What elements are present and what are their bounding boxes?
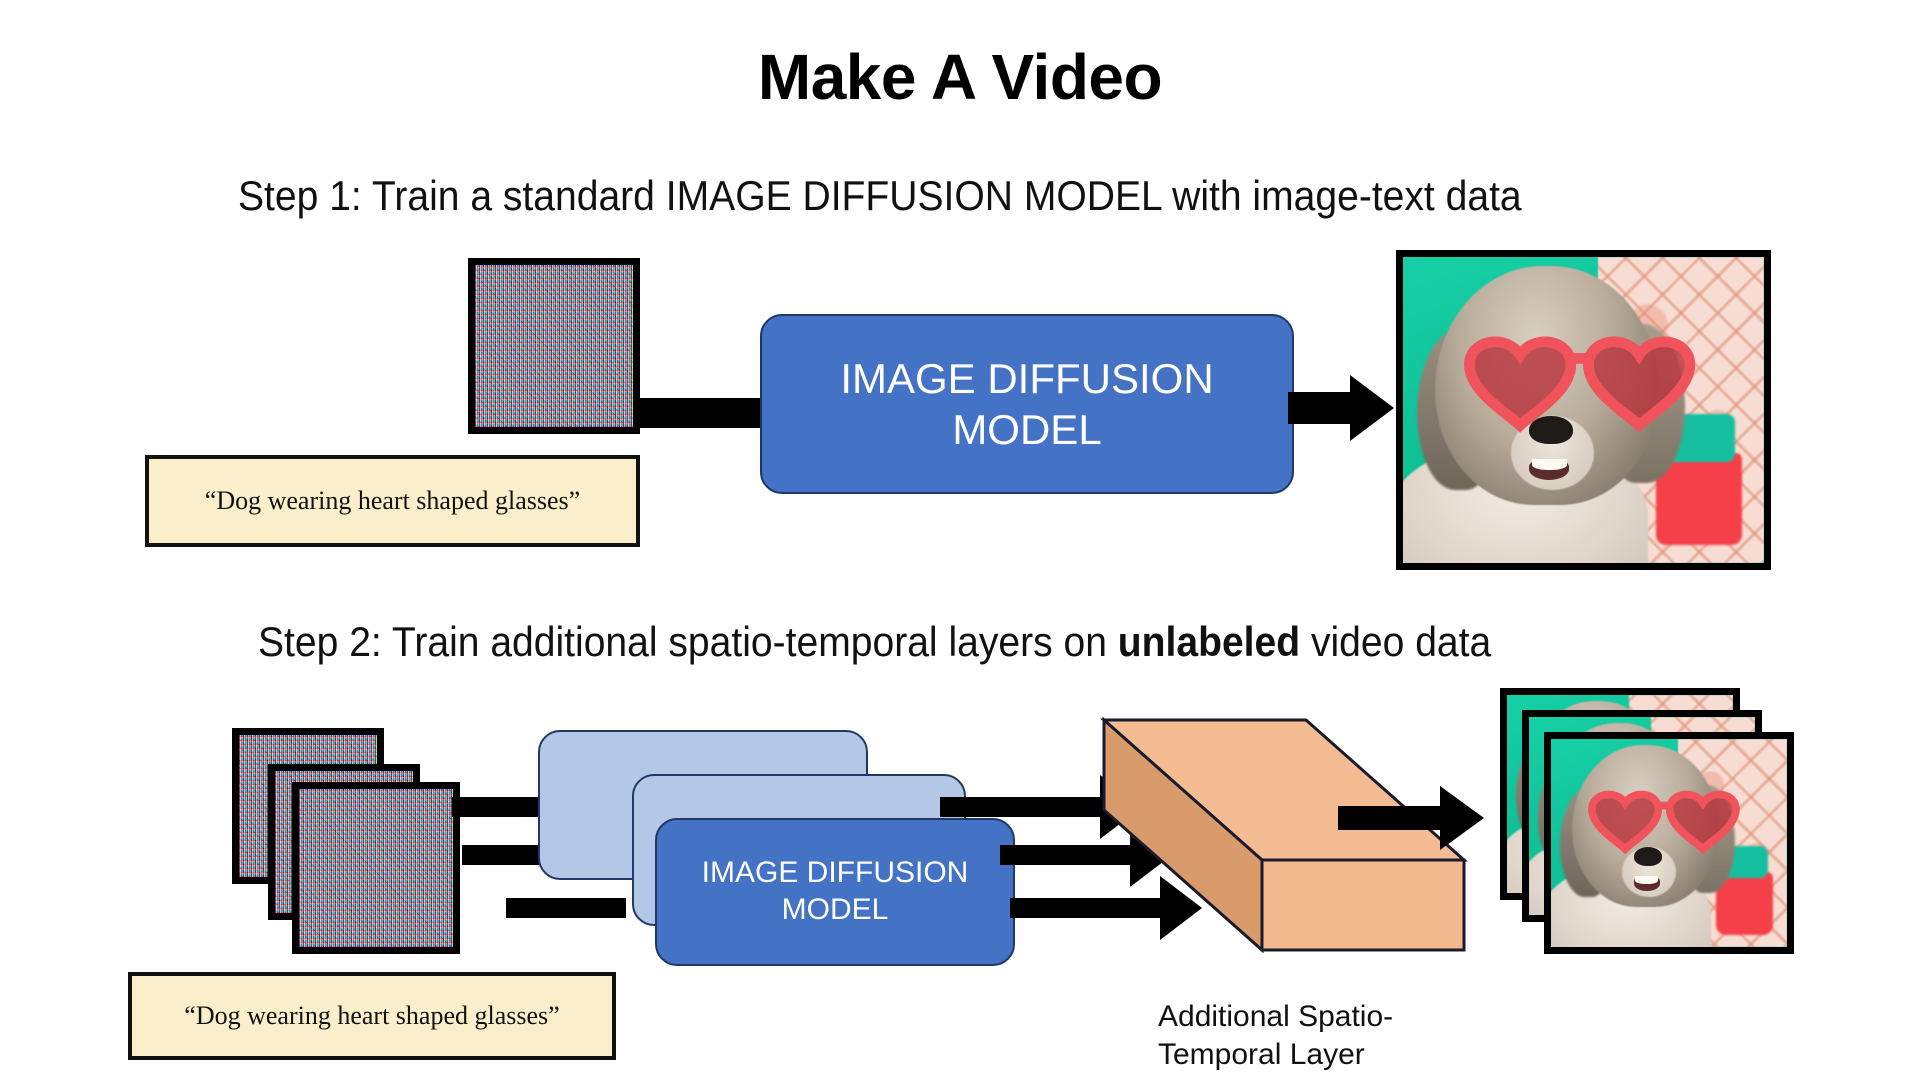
step-1-model-label-line1: IMAGE DIFFUSION xyxy=(840,353,1213,404)
step-2-dog-photo-frame-3 xyxy=(1544,732,1794,954)
step-2-output-connector xyxy=(1338,806,1448,830)
step-2-input-connector-3 xyxy=(506,898,626,918)
step-2-noise-frame-3 xyxy=(292,782,460,954)
step-1-model-label-line2: MODEL xyxy=(840,404,1213,455)
step-2-model-label-line2: MODEL xyxy=(702,892,969,929)
step-1-dog-photo xyxy=(1396,250,1771,570)
step-2-heading-part-a: Step 2: Train additional spatio-temporal… xyxy=(258,618,1118,665)
step-2-heading: Step 2: Train additional spatio-temporal… xyxy=(258,618,1491,666)
arrow-right-icon-output xyxy=(1440,786,1484,850)
step-2-caption-box: “Dog wearing heart shaped glasses” xyxy=(128,972,616,1060)
step-2-heading-bold: unlabeled xyxy=(1118,618,1300,665)
step-1-heading: Step 1: Train a standard IMAGE DIFFUSION… xyxy=(238,172,1522,220)
arrow-right-icon xyxy=(1350,375,1394,441)
step-2-model-label-line1: IMAGE DIFFUSION xyxy=(702,855,969,892)
slide-canvas: Make A Video Step 1: Train a standard IM… xyxy=(0,0,1920,1080)
step-2-heading-part-b: video data xyxy=(1300,618,1491,665)
heart-glasses-icon xyxy=(1403,257,1764,563)
step-1-noise-image xyxy=(468,258,640,434)
step-1-caption-box: “Dog wearing heart shaped glasses” xyxy=(145,455,640,547)
step-2-layer-connector-1 xyxy=(940,797,1110,817)
step-2-image-diffusion-model-box[interactable]: IMAGE DIFFUSION MODEL xyxy=(655,818,1015,966)
step-1-caption-text: “Dog wearing heart shaped glasses” xyxy=(205,485,580,517)
step-1-image-diffusion-model-box[interactable]: IMAGE DIFFUSION MODEL xyxy=(760,314,1294,494)
step-1-output-connector xyxy=(1288,392,1356,424)
spatio-temporal-layer-label: Additional Spatio- Temporal Layer xyxy=(1158,998,1488,1075)
spatio-temporal-layer-icon xyxy=(1098,700,1468,990)
step-1-input-connector xyxy=(640,398,762,428)
step-2-caption-text: “Dog wearing heart shaped glasses” xyxy=(184,1000,559,1032)
page-title: Make A Video xyxy=(0,40,1920,114)
